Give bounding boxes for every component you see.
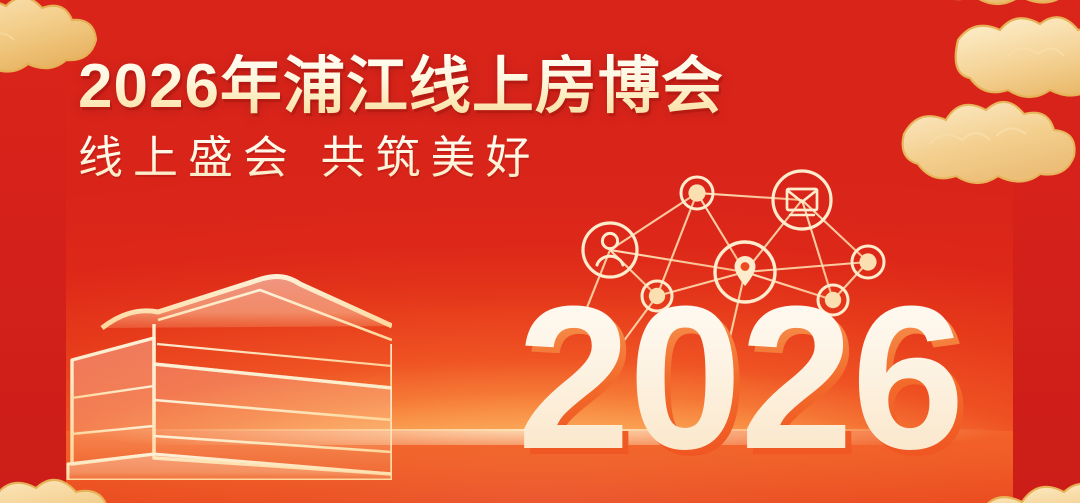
page-subtitle: 线上盛会 共筑美好 [78,133,724,183]
ground-band [0,431,1080,503]
headline-block: 2026年浦江线上房博会 线上盛会 共筑美好 [78,54,724,183]
page-title: 2026年浦江线上房博会 [78,54,724,119]
right-edge-panel [1013,0,1080,503]
left-edge-panel [0,0,66,503]
promo-banner: 2026 2026 [0,0,1080,503]
